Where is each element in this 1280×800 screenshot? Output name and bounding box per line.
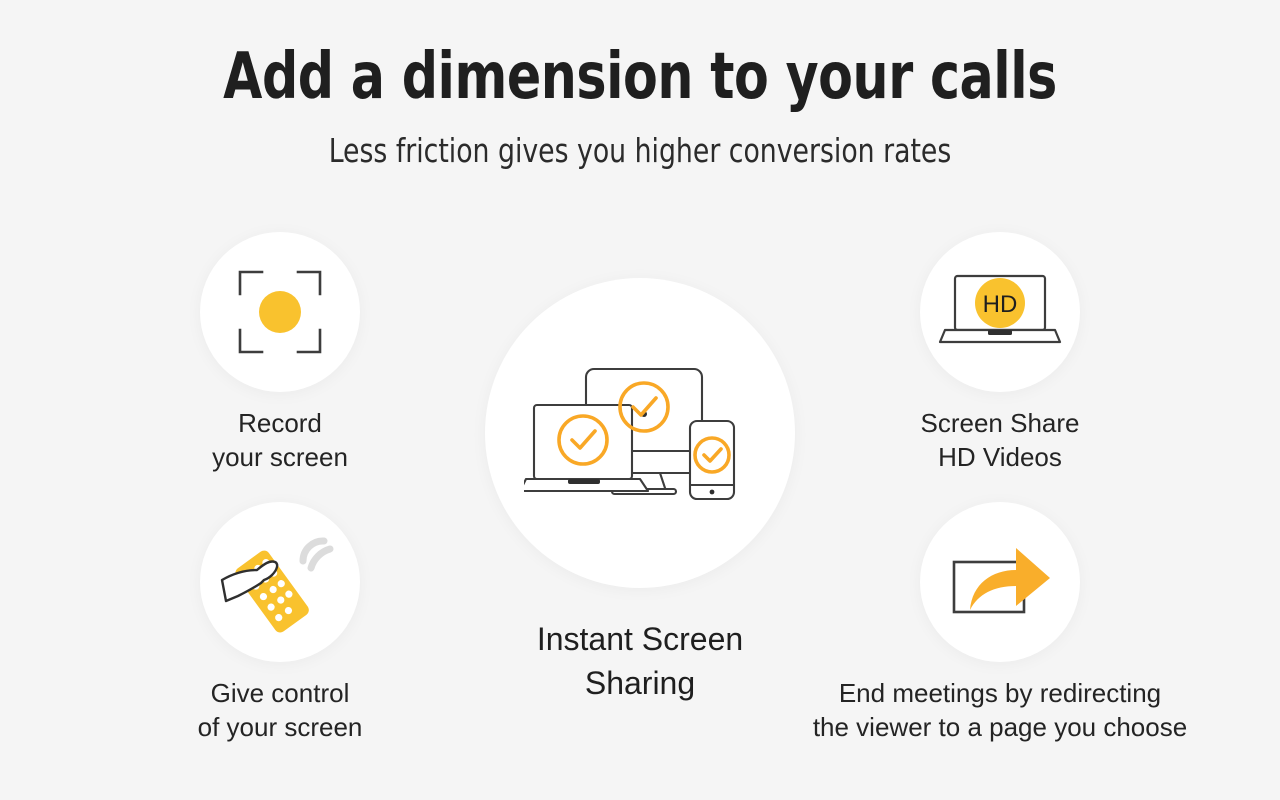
laptop-hd-icon: HD (938, 272, 1062, 352)
control-icon-circle (200, 502, 360, 662)
hand-remote-control-icon (220, 530, 340, 634)
record-screen-icon (232, 264, 328, 360)
feature-redirect-caption: End meetings by redirecting the viewer t… (813, 676, 1187, 744)
share-redirect-arrow-icon (946, 540, 1054, 624)
feature-give-control: Give control of your screen (100, 502, 460, 744)
feature-end-meetings-redirect: End meetings by redirecting the viewer t… (780, 502, 1220, 744)
hd-icon-circle: HD (920, 232, 1080, 392)
feature-record-caption: Record your screen (212, 406, 348, 474)
feature-instant-screen-sharing: Instant Screen Sharing (465, 278, 815, 705)
page-header: Add a dimension to your calls Less frict… (0, 0, 1280, 169)
hd-badge-label: HD (983, 291, 1018, 318)
instant-sharing-icon-circle (485, 278, 795, 588)
record-icon-circle (200, 232, 360, 392)
feature-record-your-screen: Record your screen (100, 232, 460, 474)
multi-device-checkmarks-icon (524, 365, 756, 501)
feature-screen-share-hd: HD Screen Share HD Videos (820, 232, 1180, 474)
feature-hd-caption: Screen Share HD Videos (921, 406, 1080, 474)
page-subtitle: Less friction gives you higher conversio… (64, 133, 1216, 169)
feature-control-caption: Give control of your screen (198, 676, 363, 744)
redirect-icon-circle (920, 502, 1080, 662)
feature-instant-caption: Instant Screen Sharing (537, 618, 743, 705)
page-title: Add a dimension to your calls (77, 44, 1203, 111)
